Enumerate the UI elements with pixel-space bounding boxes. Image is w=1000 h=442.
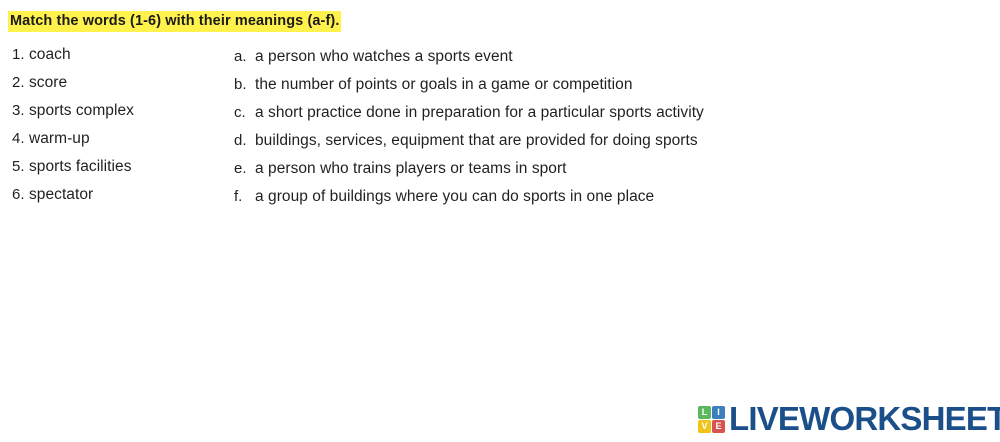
word-marker-1: 1. bbox=[12, 46, 29, 64]
list-item[interactable]: 1. coach bbox=[12, 46, 222, 74]
word-text-3: sports complex bbox=[29, 102, 134, 120]
list-item[interactable]: b. the number of points or goals in a ga… bbox=[234, 76, 974, 104]
meaning-text-c: a short practice done in preparation for… bbox=[255, 104, 704, 122]
meaning-marker-c: c. bbox=[234, 104, 255, 122]
meaning-marker-d: d. bbox=[234, 132, 255, 150]
meaning-text-e: a person who trains players or teams in … bbox=[255, 160, 567, 178]
word-text-5: sports facilities bbox=[29, 158, 132, 176]
logo-tile-i: I bbox=[712, 406, 725, 419]
liveworksheets-logo[interactable]: L I V E LIVEWORKSHEETS bbox=[698, 401, 1000, 437]
meaning-text-d: buildings, services, equipment that are … bbox=[255, 132, 698, 150]
logo-tiles-icon: L I V E bbox=[698, 406, 725, 433]
logo-tile-e: E bbox=[712, 420, 725, 433]
meaning-marker-b: b. bbox=[234, 76, 255, 94]
word-text-4: warm-up bbox=[29, 130, 90, 148]
word-marker-2: 2. bbox=[12, 74, 29, 92]
word-marker-6: 6. bbox=[12, 186, 29, 204]
meanings-column: a. a person who watches a sports event b… bbox=[234, 48, 974, 216]
instruction-heading: Match the words (1-6) with their meaning… bbox=[8, 11, 341, 32]
worksheet-page: Match the words (1-6) with their meaning… bbox=[0, 0, 1000, 442]
meaning-text-a: a person who watches a sports event bbox=[255, 48, 513, 66]
list-item[interactable]: 2. score bbox=[12, 74, 222, 102]
logo-wordmark: LIVEWORKSHEETS bbox=[729, 402, 1000, 436]
logo-tile-l: L bbox=[698, 406, 711, 419]
word-marker-4: 4. bbox=[12, 130, 29, 148]
logo-tile-v: V bbox=[698, 420, 711, 433]
list-item[interactable]: 6. spectator bbox=[12, 186, 222, 214]
word-text-2: score bbox=[29, 74, 67, 92]
list-item[interactable]: a. a person who watches a sports event bbox=[234, 48, 974, 76]
word-marker-5: 5. bbox=[12, 158, 29, 176]
list-item[interactable]: c. a short practice done in preparation … bbox=[234, 104, 974, 132]
word-marker-3: 3. bbox=[12, 102, 29, 120]
instruction-text: Match the words (1-6) with their meaning… bbox=[8, 11, 341, 32]
list-item[interactable]: 3. sports complex bbox=[12, 102, 222, 130]
list-item[interactable]: 5. sports facilities bbox=[12, 158, 222, 186]
list-item[interactable]: e. a person who trains players or teams … bbox=[234, 160, 974, 188]
list-item[interactable]: 4. warm-up bbox=[12, 130, 222, 158]
meaning-text-f: a group of buildings where you can do sp… bbox=[255, 188, 654, 206]
meaning-marker-f: f. bbox=[234, 188, 255, 206]
list-item[interactable]: d. buildings, services, equipment that a… bbox=[234, 132, 974, 160]
word-text-1: coach bbox=[29, 46, 71, 64]
words-column: 1. coach 2. score 3. sports complex 4. w… bbox=[12, 46, 222, 214]
meaning-marker-a: a. bbox=[234, 48, 255, 66]
word-text-6: spectator bbox=[29, 186, 93, 204]
meaning-text-b: the number of points or goals in a game … bbox=[255, 76, 633, 94]
meaning-marker-e: e. bbox=[234, 160, 255, 178]
list-item[interactable]: f. a group of buildings where you can do… bbox=[234, 188, 974, 216]
